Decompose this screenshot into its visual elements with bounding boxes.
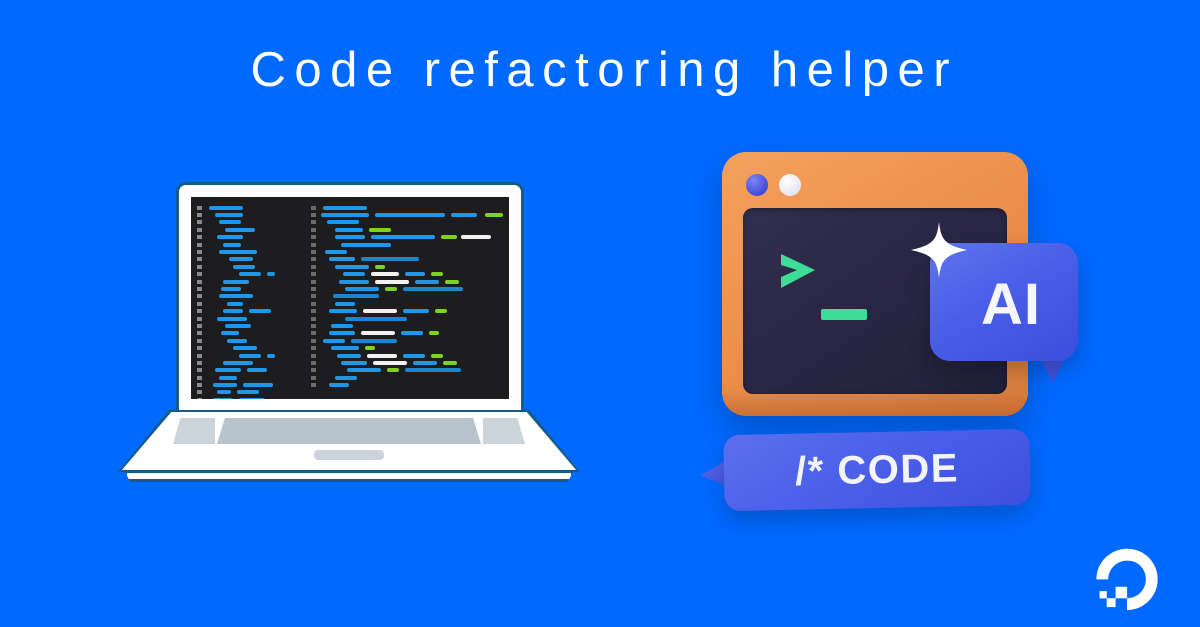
code-token <box>345 287 379 291</box>
code-indent <box>205 265 233 269</box>
code-line <box>197 307 307 314</box>
code-gutter-mark <box>197 361 202 365</box>
code-indent <box>369 265 375 269</box>
laptop-trackpad <box>314 450 384 460</box>
code-token <box>405 368 461 372</box>
code-gutter-mark <box>197 257 202 261</box>
code-indent <box>361 354 367 358</box>
code-line <box>311 307 505 314</box>
code-gutter-mark <box>197 331 202 335</box>
code-gutter-mark <box>311 309 316 313</box>
code-token <box>435 309 447 313</box>
code-line <box>311 293 505 300</box>
code-token <box>217 235 243 239</box>
code-indent <box>205 354 239 358</box>
code-token <box>335 265 369 269</box>
code-token <box>361 257 419 261</box>
code-token <box>415 280 439 284</box>
code-line <box>197 278 307 285</box>
code-line <box>311 337 505 344</box>
code-gutter-mark <box>311 317 316 321</box>
code-token <box>431 354 443 358</box>
ai-speech-bubble: AI <box>930 243 1078 361</box>
code-gutter-mark <box>311 324 316 328</box>
code-indent <box>319 228 335 232</box>
code-token <box>365 346 375 350</box>
page-title: Code refactoring helper <box>0 40 1200 100</box>
code-gutter-mark <box>197 220 202 224</box>
code-token <box>213 383 237 387</box>
code-token <box>343 272 365 276</box>
code-indent <box>205 398 213 399</box>
code-indent <box>319 309 329 313</box>
code-token <box>485 213 503 217</box>
code-token <box>429 331 439 335</box>
terminal-prompt-underscore-icon <box>821 309 867 320</box>
code-gutter-mark <box>311 383 316 387</box>
code-token <box>451 213 477 217</box>
code-line <box>311 219 505 226</box>
code-gutter-mark <box>197 390 202 394</box>
code-token <box>329 257 355 261</box>
code-line <box>197 367 307 374</box>
code-token <box>371 235 435 239</box>
code-gutter-mark <box>197 317 202 321</box>
code-gutter-mark <box>197 287 202 291</box>
code-line <box>311 248 505 255</box>
code-token <box>225 324 251 328</box>
code-token <box>373 361 407 365</box>
code-gutter-mark <box>311 368 316 372</box>
code-token <box>239 272 261 276</box>
code-indent <box>319 243 341 247</box>
code-gutter-mark <box>311 272 316 276</box>
code-token <box>229 257 253 261</box>
code-token <box>217 317 247 321</box>
code-token <box>341 361 367 365</box>
code-indent <box>395 331 401 335</box>
code-indent <box>381 368 387 372</box>
window-dot-white-icon <box>779 174 801 196</box>
code-token <box>335 302 355 306</box>
code-line <box>197 226 307 233</box>
code-token <box>441 235 457 239</box>
code-indent <box>205 331 221 335</box>
code-token <box>363 309 397 313</box>
code-token <box>223 309 243 313</box>
code-token <box>233 346 257 350</box>
code-token <box>221 331 239 335</box>
code-token <box>461 235 491 239</box>
code-indent <box>319 250 325 254</box>
code-gutter-mark <box>197 213 202 217</box>
code-line <box>197 381 307 388</box>
code-token <box>337 354 361 358</box>
code-token <box>401 331 423 335</box>
code-gutter-mark <box>197 228 202 232</box>
code-gutter-mark <box>197 339 202 343</box>
laptop-illustration <box>118 182 580 487</box>
code-token <box>221 287 241 291</box>
code-line <box>311 234 505 241</box>
code-editor-columns <box>191 197 509 399</box>
code-token <box>267 272 275 276</box>
code-token <box>323 339 345 343</box>
code-indent <box>205 228 225 232</box>
code-line <box>311 359 505 366</box>
code-indent <box>367 361 373 365</box>
laptop-screen <box>191 197 509 399</box>
code-gutter-mark <box>311 257 316 261</box>
sparkle-star-icon <box>908 219 970 281</box>
code-gutter-mark <box>311 376 316 380</box>
code-token <box>413 361 437 365</box>
code-gutter-mark <box>311 339 316 343</box>
code-token <box>339 280 369 284</box>
code-indent <box>437 361 443 365</box>
code-indent <box>319 324 331 328</box>
code-gutter-mark <box>197 265 202 269</box>
code-gutter-mark <box>197 398 202 399</box>
code-indent <box>359 346 365 350</box>
code-indent <box>423 331 429 335</box>
code-gutter-mark <box>311 331 316 335</box>
code-indent <box>445 213 451 217</box>
code-line <box>311 315 505 322</box>
code-token <box>335 228 363 232</box>
code-token <box>367 354 397 358</box>
code-token <box>369 228 391 232</box>
code-line <box>197 352 307 359</box>
code-column-left <box>191 197 309 399</box>
code-token <box>341 243 391 247</box>
code-line <box>197 204 307 211</box>
code-indent <box>319 361 341 365</box>
code-indent <box>205 220 219 224</box>
code-indent <box>365 272 371 276</box>
code-token <box>405 272 425 276</box>
poster-canvas: Code refactoring helper <box>0 0 1200 627</box>
code-indent <box>205 280 223 284</box>
code-indent <box>319 257 329 261</box>
code-token <box>443 361 457 365</box>
code-line <box>311 300 505 307</box>
code-token <box>227 302 243 306</box>
code-line <box>311 211 505 218</box>
code-token <box>445 280 459 284</box>
code-line <box>311 256 505 263</box>
code-line <box>197 337 307 344</box>
code-gutter-mark <box>311 206 316 210</box>
code-indent <box>429 309 435 313</box>
code-token <box>385 287 397 291</box>
code-line <box>197 285 307 292</box>
code-line <box>311 330 505 337</box>
code-indent <box>205 368 215 372</box>
code-line <box>311 322 505 329</box>
code-line <box>197 396 307 399</box>
code-gutter-mark <box>311 213 316 217</box>
code-indent <box>425 354 431 358</box>
code-token <box>233 265 255 269</box>
code-indent <box>205 309 223 313</box>
code-indent <box>319 272 343 276</box>
code-indent <box>319 302 335 306</box>
code-gutter-mark <box>197 368 202 372</box>
code-indent <box>205 257 229 261</box>
code-indent <box>397 354 403 358</box>
code-indent <box>357 309 363 313</box>
digitalocean-logo <box>1096 548 1158 610</box>
code-gutter-mark <box>311 220 316 224</box>
code-line <box>197 293 307 300</box>
code-indent <box>205 317 217 321</box>
code-indent <box>319 331 329 335</box>
code-indent <box>407 361 413 365</box>
code-indent <box>477 213 485 217</box>
code-gutter-mark <box>197 309 202 313</box>
code-line <box>197 344 307 351</box>
code-token <box>375 280 409 284</box>
code-indent <box>319 346 331 350</box>
code-indent <box>205 235 217 239</box>
code-token <box>249 309 271 313</box>
code-indent <box>397 287 403 291</box>
code-gutter-mark <box>197 235 202 239</box>
code-gutter-mark <box>311 361 316 365</box>
code-gutter-mark <box>197 250 202 254</box>
code-gutter-mark <box>197 302 202 306</box>
code-indent <box>205 390 217 394</box>
code-token <box>329 309 357 313</box>
code-gutter-mark <box>311 265 316 269</box>
code-gutter-mark <box>311 346 316 350</box>
code-indent <box>439 280 445 284</box>
code-token <box>335 376 357 380</box>
code-line <box>311 263 505 270</box>
code-gutter-mark <box>197 280 202 284</box>
code-line <box>311 278 505 285</box>
code-indent <box>319 368 347 372</box>
code-indent <box>205 302 227 306</box>
code-line <box>197 374 307 381</box>
code-gutter-mark <box>311 235 316 239</box>
code-token <box>223 280 249 284</box>
terminal-prompt-chevron-icon <box>775 248 821 294</box>
code-line <box>197 234 307 241</box>
code-indent <box>205 294 219 298</box>
code-gutter-mark <box>197 346 202 350</box>
code-speech-bubble: /* CODE <box>700 432 1030 512</box>
code-token <box>215 213 243 217</box>
code-indent <box>345 339 351 343</box>
laptop-front-lip <box>124 470 574 482</box>
code-indent <box>205 272 239 276</box>
code-token <box>403 287 463 291</box>
code-token <box>375 213 445 217</box>
code-token <box>217 390 231 394</box>
code-indent <box>205 243 223 247</box>
code-column-right <box>309 197 509 399</box>
laptop-keyboard <box>217 418 481 444</box>
window-dot-blue-icon <box>746 174 768 196</box>
code-indent <box>399 272 405 276</box>
code-line <box>311 285 505 292</box>
code-token <box>329 331 355 335</box>
code-indent <box>205 361 223 365</box>
code-indent <box>369 280 375 284</box>
code-line <box>197 248 307 255</box>
code-token <box>213 398 233 399</box>
code-gutter-mark <box>311 294 316 298</box>
code-indent <box>319 220 327 224</box>
code-gutter-mark <box>197 383 202 387</box>
code-token <box>345 317 407 321</box>
code-token <box>403 354 425 358</box>
code-indent <box>363 228 369 232</box>
code-gutter-mark <box>197 243 202 247</box>
code-line <box>311 367 505 374</box>
code-indent <box>399 368 405 372</box>
code-indent <box>355 331 361 335</box>
code-line <box>311 344 505 351</box>
code-gutter-mark <box>311 354 316 358</box>
code-token <box>225 228 255 232</box>
code-indent <box>319 265 335 269</box>
code-token <box>387 368 399 372</box>
code-token <box>215 368 241 372</box>
code-gutter-mark <box>197 206 202 210</box>
code-indent <box>319 383 329 387</box>
code-indent <box>205 346 233 350</box>
code-token <box>323 206 367 210</box>
code-token <box>267 354 275 358</box>
code-line <box>311 381 505 388</box>
code-indent <box>319 235 335 239</box>
code-indent <box>319 287 345 291</box>
code-line <box>197 322 307 329</box>
code-line <box>311 204 505 211</box>
code-gutter-mark <box>311 228 316 232</box>
code-line <box>311 241 505 248</box>
code-indent <box>205 213 215 217</box>
code-gutter-mark <box>311 250 316 254</box>
code-line <box>197 330 307 337</box>
code-token <box>219 376 237 380</box>
code-token <box>331 346 359 350</box>
code-token <box>227 339 247 343</box>
code-line <box>311 226 505 233</box>
code-token <box>375 265 385 269</box>
code-indent <box>435 235 441 239</box>
code-bubble-label: /* CODE <box>723 429 1031 511</box>
code-indent <box>409 280 415 284</box>
laptop-lid <box>176 182 524 414</box>
code-gutter-mark <box>197 354 202 358</box>
code-token <box>351 339 397 343</box>
code-indent <box>425 272 431 276</box>
code-indent <box>319 317 345 321</box>
code-token <box>371 272 399 276</box>
code-token <box>247 368 267 372</box>
code-line <box>197 315 307 322</box>
code-token <box>331 324 353 328</box>
code-token <box>333 294 379 298</box>
code-token <box>239 398 265 399</box>
code-gutter-mark <box>311 243 316 247</box>
code-gutter-mark <box>197 376 202 380</box>
code-gutter-mark <box>197 294 202 298</box>
code-token <box>335 235 365 239</box>
code-token <box>239 354 261 358</box>
code-indent <box>319 376 335 380</box>
code-indent <box>369 213 375 217</box>
code-line <box>197 300 307 307</box>
code-token <box>325 250 347 254</box>
code-token <box>321 213 369 217</box>
code-token <box>223 243 241 247</box>
code-indent <box>205 250 219 254</box>
code-gutter-mark <box>311 287 316 291</box>
code-gutter-mark <box>311 302 316 306</box>
code-token <box>327 220 359 224</box>
code-indent <box>205 324 225 328</box>
code-token <box>329 383 349 387</box>
code-indent <box>379 287 385 291</box>
code-token <box>431 272 443 276</box>
code-line <box>197 359 307 366</box>
code-indent <box>205 287 221 291</box>
code-indent <box>319 294 333 298</box>
code-token <box>219 294 253 298</box>
code-line <box>197 271 307 278</box>
code-line <box>197 211 307 218</box>
code-line <box>197 389 307 396</box>
code-indent <box>205 383 213 387</box>
code-token <box>219 250 257 254</box>
code-token <box>403 309 429 313</box>
code-line <box>311 271 505 278</box>
code-indent <box>205 339 227 343</box>
code-indent <box>365 235 371 239</box>
code-gutter-mark <box>197 324 202 328</box>
code-token <box>361 331 395 335</box>
code-indent <box>319 280 339 284</box>
code-line <box>311 352 505 359</box>
code-token <box>209 206 243 210</box>
code-line <box>311 374 505 381</box>
code-line <box>197 256 307 263</box>
code-token <box>347 368 381 372</box>
code-token <box>243 383 273 387</box>
code-line <box>197 263 307 270</box>
code-token <box>237 390 259 394</box>
code-token <box>219 220 241 224</box>
code-indent <box>319 354 337 358</box>
code-gutter-mark <box>311 280 316 284</box>
code-indent <box>397 309 403 313</box>
code-indent <box>355 257 361 261</box>
code-token <box>223 361 253 365</box>
code-indent <box>205 376 219 380</box>
code-line <box>197 241 307 248</box>
code-gutter-mark <box>197 272 202 276</box>
code-line <box>197 219 307 226</box>
